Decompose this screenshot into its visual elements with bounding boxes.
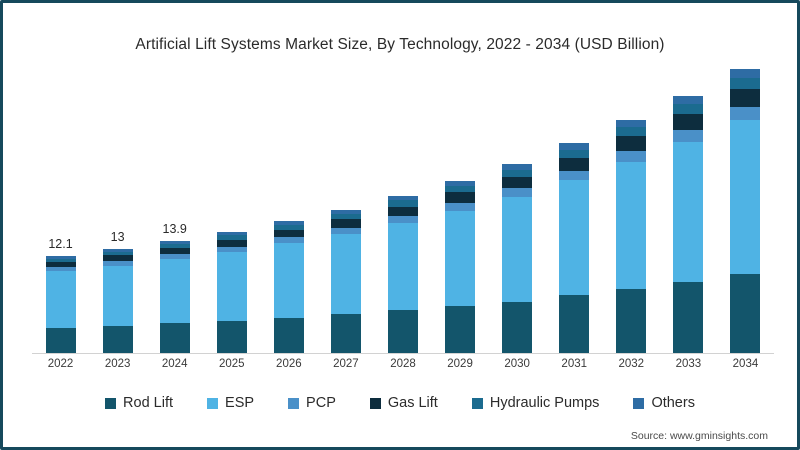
bar-group[interactable] xyxy=(559,143,589,353)
bar-stack[interactable] xyxy=(46,256,76,353)
legend-swatch-icon xyxy=(207,398,218,409)
bar-segment-others[interactable] xyxy=(673,96,703,104)
x-tick-label-2033: 2033 xyxy=(665,358,711,370)
chart-title: Artificial Lift Systems Market Size, By … xyxy=(6,36,794,54)
bar-segment-rod-lift[interactable] xyxy=(217,321,247,353)
bar-value-label: 12.1 xyxy=(48,237,72,251)
legend-swatch-icon xyxy=(288,398,299,409)
x-tick-label-2028: 2028 xyxy=(380,358,426,370)
legend-item-gas-lift[interactable]: Gas Lift xyxy=(370,395,438,411)
bar-segment-pcp[interactable] xyxy=(616,151,646,162)
legend-item-hydraulic-pumps[interactable]: Hydraulic Pumps xyxy=(472,395,600,411)
x-tick-label-2022: 2022 xyxy=(38,358,84,370)
bar-segment-pcp[interactable] xyxy=(445,203,475,211)
legend-label: ESP xyxy=(225,395,254,411)
bar-segment-hydraulic-pumps[interactable] xyxy=(673,104,703,114)
bar-segment-rod-lift[interactable] xyxy=(730,274,760,353)
bar-segment-hydraulic-pumps[interactable] xyxy=(616,127,646,136)
bar-segment-rod-lift[interactable] xyxy=(559,295,589,353)
x-tick-label-2025: 2025 xyxy=(209,358,255,370)
bar-segment-esp[interactable] xyxy=(502,197,532,301)
bar-segment-gas-lift[interactable] xyxy=(445,192,475,202)
chart-frame: Artificial Lift Systems Market Size, By … xyxy=(0,0,800,450)
bar-group[interactable]: 13.9 xyxy=(160,241,190,353)
bar-stack[interactable] xyxy=(217,232,247,353)
bar-group[interactable] xyxy=(616,120,646,353)
bar-segment-esp[interactable] xyxy=(730,120,760,273)
bar-group[interactable] xyxy=(445,181,475,353)
chart-legend: Rod LiftESPPCPGas LiftHydraulic PumpsOth… xyxy=(32,392,768,414)
x-tick-label-2031: 2031 xyxy=(551,358,597,370)
bar-group[interactable] xyxy=(217,232,247,353)
legend-label: Others xyxy=(651,395,695,411)
bar-stack[interactable] xyxy=(502,164,532,353)
legend-label: Gas Lift xyxy=(388,395,438,411)
bar-group[interactable] xyxy=(502,164,532,353)
bar-segment-gas-lift[interactable] xyxy=(217,240,247,247)
bar-segment-esp[interactable] xyxy=(160,259,190,323)
legend-item-pcp[interactable]: PCP xyxy=(288,395,336,411)
bar-segment-others[interactable] xyxy=(616,120,646,127)
bar-segment-gas-lift[interactable] xyxy=(331,219,361,227)
bar-segment-gas-lift[interactable] xyxy=(388,207,418,216)
legend-label: PCP xyxy=(306,395,336,411)
bar-segment-pcp[interactable] xyxy=(730,107,760,121)
bar-group[interactable] xyxy=(274,221,304,353)
bar-segment-gas-lift[interactable] xyxy=(616,136,646,150)
x-tick-label-2024: 2024 xyxy=(152,358,198,370)
bar-stack[interactable] xyxy=(274,221,304,353)
bar-group[interactable]: 12.1 xyxy=(46,256,76,353)
bar-group[interactable]: 13 xyxy=(103,249,133,353)
bar-group[interactable] xyxy=(730,69,760,353)
bar-segment-others[interactable] xyxy=(730,69,760,78)
bar-segment-pcp[interactable] xyxy=(388,216,418,223)
bar-segment-esp[interactable] xyxy=(445,211,475,307)
bar-segment-esp[interactable] xyxy=(331,234,361,314)
bar-stack[interactable] xyxy=(673,96,703,353)
bar-segment-rod-lift[interactable] xyxy=(274,318,304,353)
bar-segment-gas-lift[interactable] xyxy=(502,177,532,188)
bar-segment-rod-lift[interactable] xyxy=(103,326,133,353)
bar-segment-rod-lift[interactable] xyxy=(331,314,361,353)
bar-stack[interactable] xyxy=(331,210,361,353)
bar-value-label: 13.9 xyxy=(163,222,187,236)
bar-stack[interactable] xyxy=(445,181,475,353)
bar-segment-gas-lift[interactable] xyxy=(673,114,703,130)
bar-stack[interactable] xyxy=(559,143,589,353)
bar-segment-hydraulic-pumps[interactable] xyxy=(559,150,589,158)
bar-segment-hydraulic-pumps[interactable] xyxy=(730,78,760,89)
x-tick-label-2026: 2026 xyxy=(266,358,312,370)
chart-canvas: Artificial Lift Systems Market Size, By … xyxy=(6,6,794,444)
bar-segment-gas-lift[interactable] xyxy=(559,158,589,171)
bar-segment-esp[interactable] xyxy=(46,271,76,328)
legend-swatch-icon xyxy=(370,398,381,409)
bar-segment-esp[interactable] xyxy=(673,142,703,282)
bar-segment-rod-lift[interactable] xyxy=(160,323,190,353)
bar-segment-hydraulic-pumps[interactable] xyxy=(502,170,532,177)
source-attribution: Source: www.gminsights.com xyxy=(631,430,768,442)
x-tick-label-2023: 2023 xyxy=(95,358,141,370)
bar-segment-rod-lift[interactable] xyxy=(388,310,418,353)
bar-segment-esp[interactable] xyxy=(616,162,646,289)
bar-segment-gas-lift[interactable] xyxy=(274,230,304,238)
bar-group[interactable] xyxy=(673,96,703,353)
bar-group[interactable] xyxy=(388,196,418,353)
bar-segment-rod-lift[interactable] xyxy=(502,302,532,353)
legend-swatch-icon xyxy=(105,398,116,409)
bar-segment-gas-lift[interactable] xyxy=(730,89,760,107)
legend-item-rod-lift[interactable]: Rod Lift xyxy=(105,395,173,411)
bar-group[interactable] xyxy=(331,210,361,353)
legend-swatch-icon xyxy=(633,398,644,409)
bar-value-label: 13 xyxy=(111,230,125,244)
bar-segment-esp[interactable] xyxy=(274,243,304,318)
bar-segment-esp[interactable] xyxy=(388,223,418,311)
bar-segment-rod-lift[interactable] xyxy=(445,306,475,353)
bar-segment-esp[interactable] xyxy=(103,266,133,326)
bar-segment-pcp[interactable] xyxy=(673,130,703,142)
bar-segment-pcp[interactable] xyxy=(559,171,589,181)
bar-stack[interactable] xyxy=(103,249,133,353)
x-tick-label-2032: 2032 xyxy=(608,358,654,370)
bar-segment-rod-lift[interactable] xyxy=(673,282,703,353)
plot-area: 12.11313.9 xyxy=(32,81,774,354)
bar-stack[interactable] xyxy=(388,196,418,353)
x-tick-label-2034: 2034 xyxy=(722,358,768,370)
bar-stack[interactable] xyxy=(616,120,646,353)
bar-segment-esp[interactable] xyxy=(559,180,589,295)
bar-segment-esp[interactable] xyxy=(217,252,247,321)
legend-swatch-icon xyxy=(472,398,483,409)
x-tick-label-2030: 2030 xyxy=(494,358,540,370)
bar-stack[interactable] xyxy=(160,241,190,353)
x-tick-label-2029: 2029 xyxy=(437,358,483,370)
bar-segment-rod-lift[interactable] xyxy=(46,328,76,353)
x-tick-label-2027: 2027 xyxy=(323,358,369,370)
legend-label: Rod Lift xyxy=(123,395,173,411)
x-axis-tick-labels: 2022202320242025202620272028202920302031… xyxy=(32,358,774,376)
legend-label: Hydraulic Pumps xyxy=(490,395,600,411)
bar-stack[interactable] xyxy=(730,69,760,353)
legend-item-others[interactable]: Others xyxy=(633,395,695,411)
bar-segment-pcp[interactable] xyxy=(502,188,532,197)
bar-segment-rod-lift[interactable] xyxy=(616,289,646,353)
x-axis-line xyxy=(32,353,774,354)
legend-item-esp[interactable]: ESP xyxy=(207,395,254,411)
